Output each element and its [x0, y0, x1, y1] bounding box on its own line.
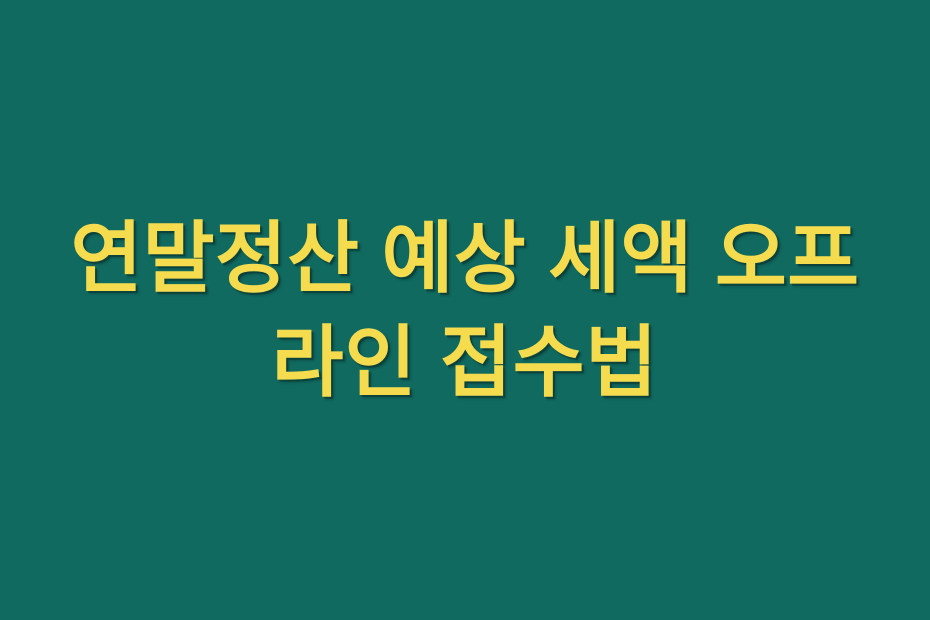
title-line-1: 연말정산 예상 세액 오프	[40, 206, 890, 310]
title-line-2: 라인 접수법	[40, 310, 890, 414]
thumbnail-canvas: 연말정산 예상 세액 오프 라인 접수법	[0, 0, 930, 620]
title-block: 연말정산 예상 세액 오프 라인 접수법	[0, 206, 930, 414]
